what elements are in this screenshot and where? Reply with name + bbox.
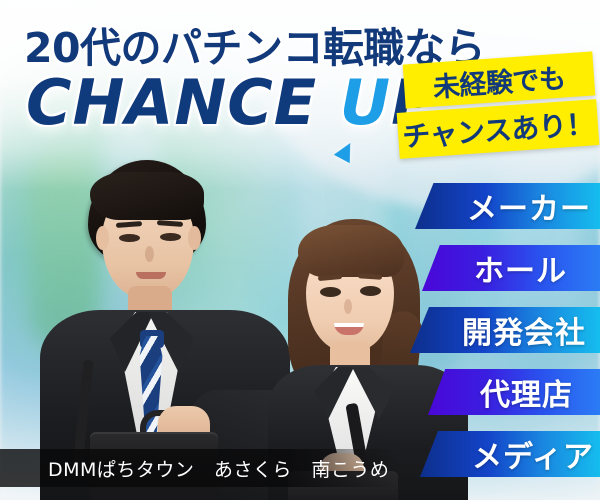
man-ear-left: [96, 226, 109, 250]
caption-text: DMMぱちタウン あさくら 南こうめ: [48, 455, 389, 482]
man-ear-right: [188, 226, 201, 250]
badge-line-2: チャンスあり！: [397, 99, 600, 159]
logo-letter-u: U: [340, 66, 391, 139]
category-bar-agency[interactable]: 代理店: [428, 369, 600, 415]
category-bar-hall[interactable]: ホール: [422, 245, 600, 291]
man-nose: [145, 246, 154, 262]
man-eye-left: [119, 234, 140, 242]
logo-word-chance: CHANCE: [26, 66, 317, 139]
man-mouth: [136, 272, 166, 279]
caption-band: DMMぱちタウン あさくら 南こうめ: [0, 449, 400, 487]
woman-fringe: [298, 225, 404, 277]
category-label: 代理店: [480, 370, 573, 414]
man-eye-right: [160, 233, 181, 241]
category-label: メディア: [472, 432, 594, 476]
category-label: メーカー: [467, 184, 591, 228]
category-bar-media[interactable]: メディア: [420, 431, 600, 477]
man-fringe: [90, 172, 204, 220]
woman-nose: [344, 299, 352, 314]
category-label: ホール: [474, 246, 567, 290]
woman-eye-left: [320, 287, 341, 297]
chance-up-logo: CHANCE UP: [26, 72, 438, 134]
category-bar-maker[interactable]: メーカー: [415, 183, 600, 229]
badge-line-1: 未経験でも: [403, 51, 596, 108]
category-bar-developer[interactable]: 開発会社: [410, 307, 600, 353]
no-experience-badge: 未経験でも チャンスあり！: [398, 56, 598, 161]
category-label: 開発会社: [462, 308, 586, 352]
woman-eye-right: [360, 286, 381, 296]
advertisement-banner[interactable]: 20代のパチンコ転職なら CHANCE UP 未経験でも チャンスあり！ メーカ…: [0, 0, 600, 500]
